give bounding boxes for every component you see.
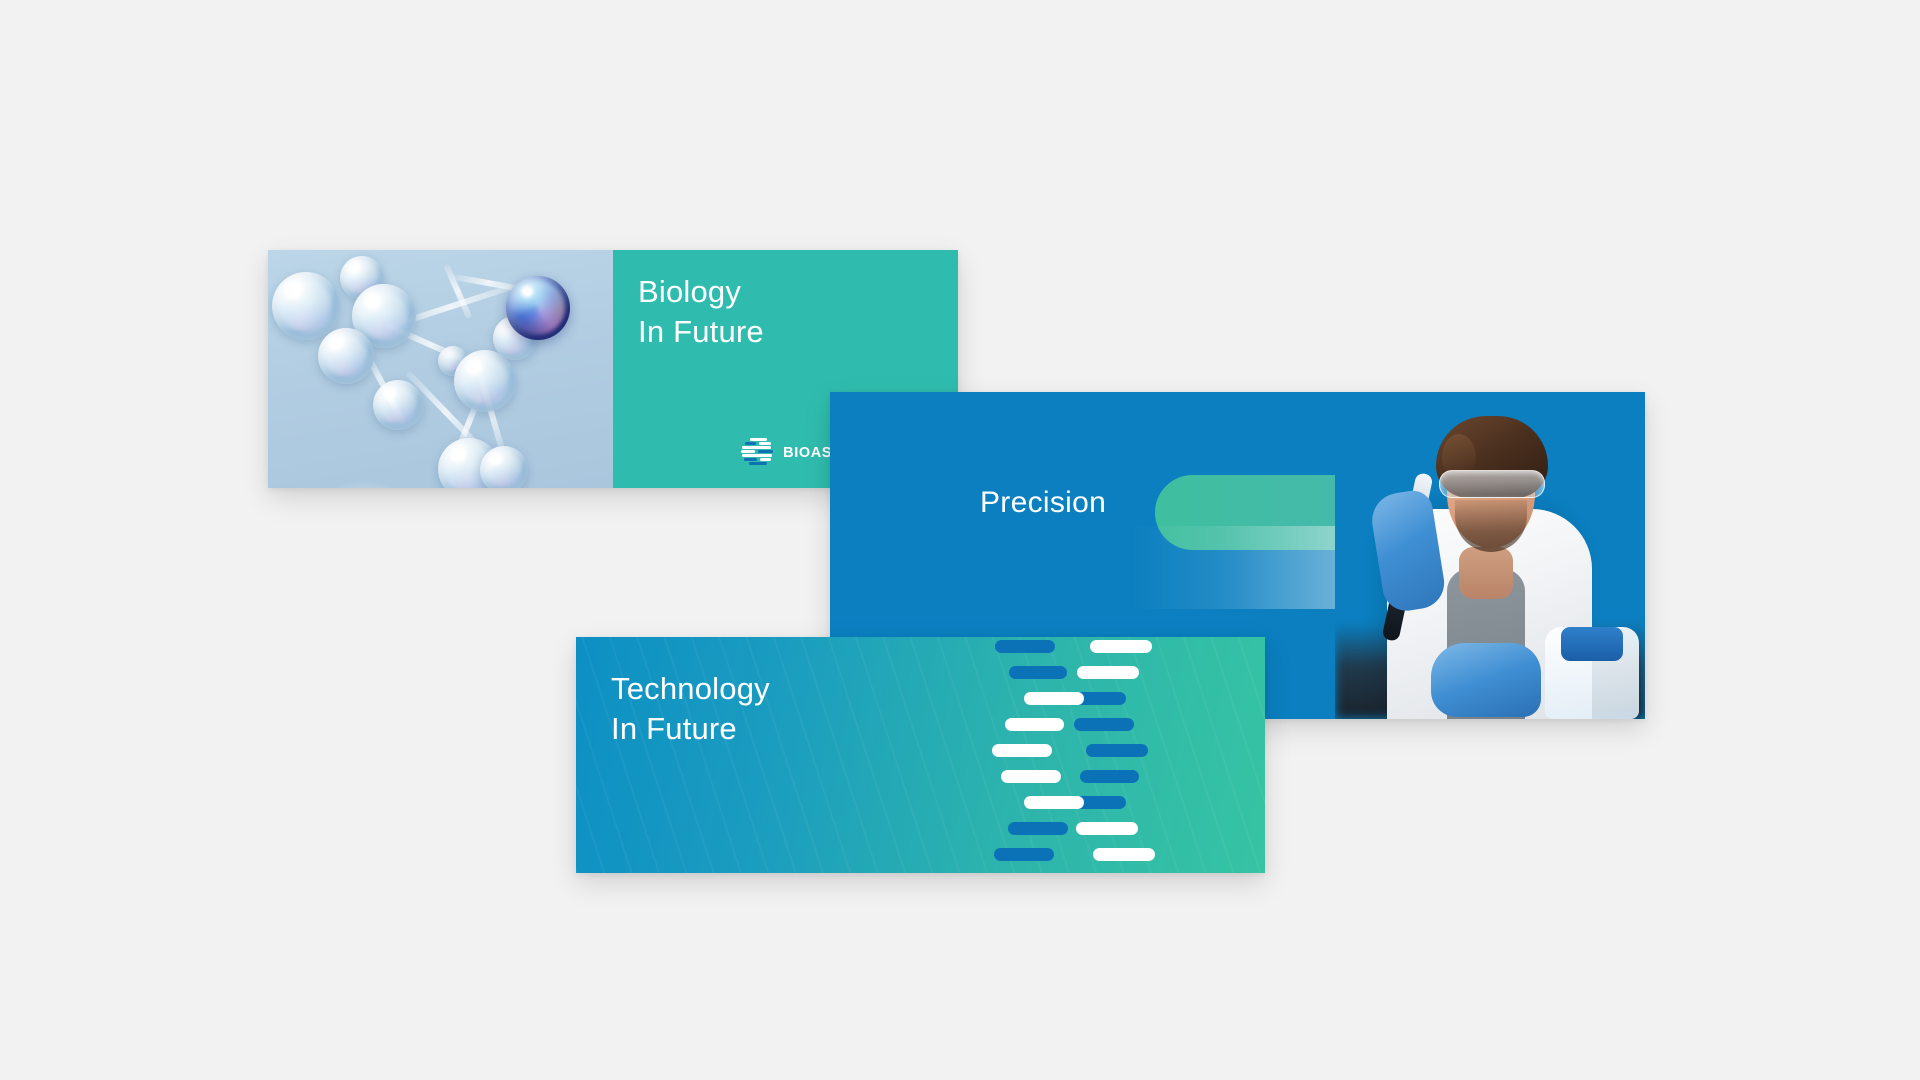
bioassist-sphere-bars-logo-icon bbox=[741, 437, 774, 468]
molecule-bond bbox=[443, 264, 472, 319]
molecule-atom-iridescent bbox=[272, 272, 340, 340]
precision-title: Precision bbox=[980, 486, 1106, 520]
dna-band-blue bbox=[1008, 822, 1068, 835]
dna-band-blue bbox=[994, 848, 1054, 861]
safety-goggles bbox=[1439, 470, 1545, 498]
dna-band-blue bbox=[1074, 718, 1134, 731]
glass-molecule-photo bbox=[268, 250, 613, 488]
dna-band-white bbox=[1076, 822, 1138, 835]
reagent-bottle-cap bbox=[1561, 627, 1623, 661]
technology-title: Technology In Future bbox=[611, 669, 770, 749]
neck bbox=[1459, 547, 1513, 599]
molecule-atom-iridescent bbox=[373, 380, 423, 430]
dna-band-white bbox=[1024, 796, 1084, 809]
biology-title: Biology In Future bbox=[638, 272, 764, 352]
slide-canvas: Biology In Future BIOASSIST 佰 奥 斯 特 Prec… bbox=[0, 0, 1920, 1080]
dna-band-white bbox=[1001, 770, 1061, 783]
card-technology[interactable]: Technology In Future bbox=[576, 637, 1265, 873]
dna-band-white bbox=[1090, 640, 1152, 653]
dna-band-blue bbox=[1080, 770, 1139, 783]
dna-band-blue bbox=[995, 640, 1055, 653]
scientist-pipetting-photo bbox=[1335, 392, 1645, 719]
dna-band-white bbox=[1077, 666, 1139, 679]
molecule-atom-iridescent bbox=[454, 350, 516, 412]
molecule-atom-iridescent bbox=[318, 328, 374, 384]
dna-band-white bbox=[992, 744, 1052, 757]
dna-band-white bbox=[1093, 848, 1155, 861]
gloved-hand-lower bbox=[1431, 643, 1541, 717]
molecule-atom-iridescent bbox=[480, 446, 528, 488]
molecule-atom-blue bbox=[506, 276, 570, 340]
dna-band-blue bbox=[1086, 744, 1148, 757]
dna-helix-bands-graphic bbox=[984, 637, 1174, 873]
dna-band-white bbox=[1005, 718, 1064, 731]
dna-band-blue bbox=[1009, 666, 1067, 679]
dna-band-white bbox=[1024, 692, 1084, 705]
